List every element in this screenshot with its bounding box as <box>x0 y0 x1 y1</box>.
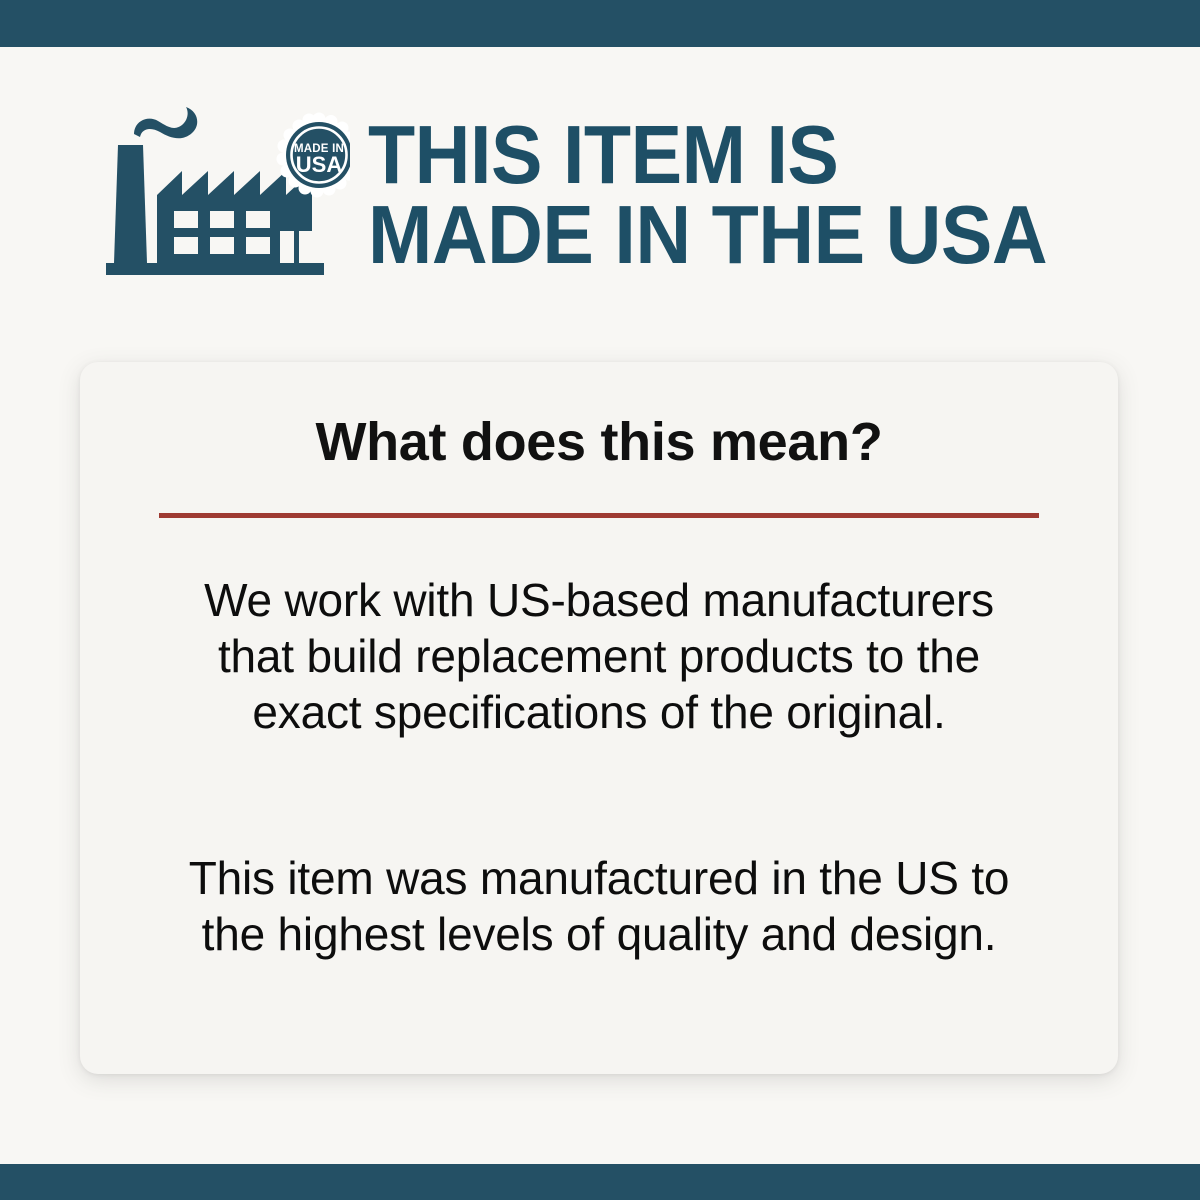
card-paragraph-1: We work with US-based manufacturers that… <box>146 572 1052 740</box>
bottom-accent-band <box>0 1164 1200 1200</box>
page-title-line-1: THIS ITEM IS <box>368 115 1047 195</box>
top-accent-band <box>0 0 1200 47</box>
header: MADE IN USA THIS ITEM IS MADE IN THE USA <box>0 90 1200 300</box>
card-paragraph-2: This item was manufactured in the US to … <box>146 850 1052 962</box>
factory-made-in-usa-icon: MADE IN USA <box>100 103 350 288</box>
made-in-usa-banner: MADE IN USA THIS ITEM IS MADE IN THE USA… <box>0 0 1200 1200</box>
card-heading: What does this mean? <box>146 414 1052 471</box>
badge-line-2: USA <box>296 152 343 177</box>
page-title: THIS ITEM IS MADE IN THE USA <box>368 115 1047 274</box>
card-divider <box>159 513 1039 518</box>
info-card: What does this mean? We work with US-bas… <box>80 362 1118 1074</box>
page-title-line-2: MADE IN THE USA <box>368 195 1047 275</box>
